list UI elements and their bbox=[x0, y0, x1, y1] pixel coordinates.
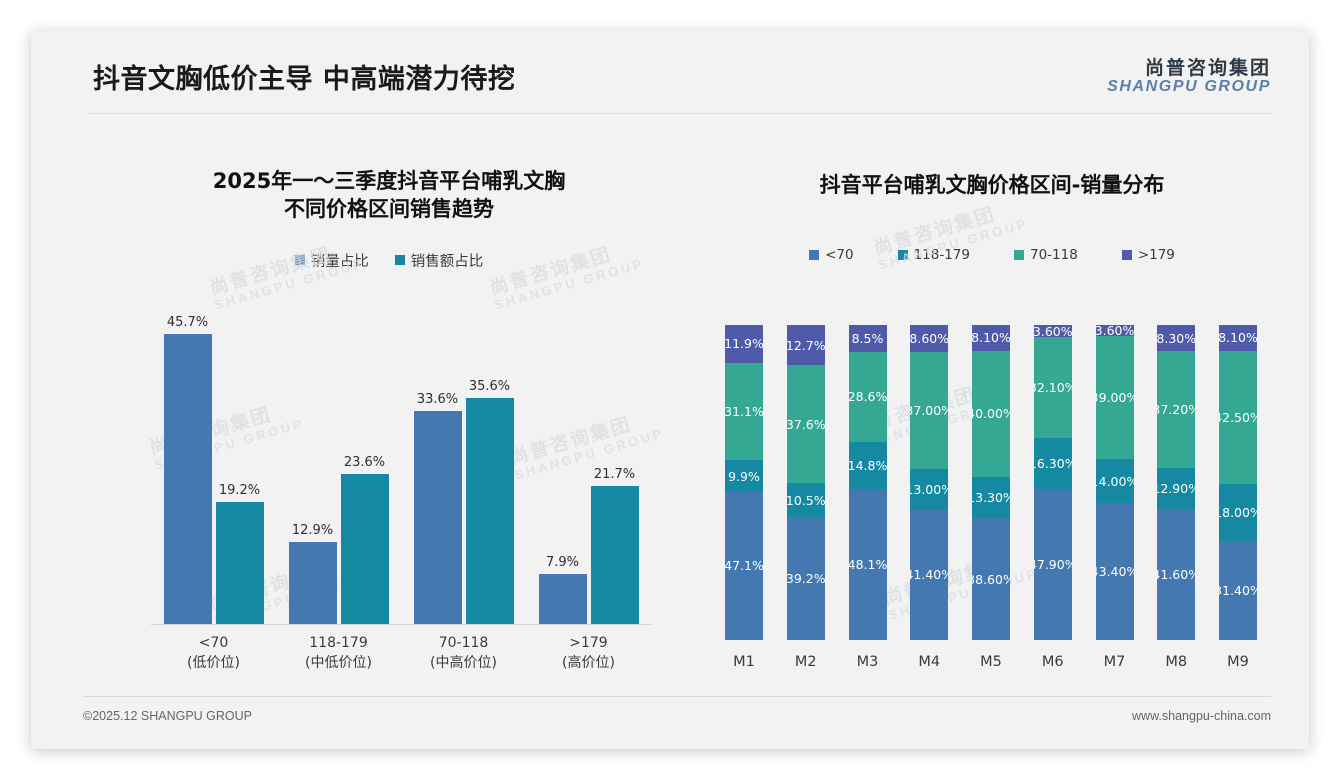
segment-value-label: 43.40% bbox=[1096, 564, 1134, 579]
stacked-bar-segment[interactable]: 16.30% bbox=[1034, 438, 1072, 489]
grouped-bar-x-axis: <70(低价位)118-179(中低价位)70-118(中高价位)>179(高价… bbox=[151, 627, 651, 677]
stacked-bar-segment[interactable]: 37.20% bbox=[1157, 351, 1195, 468]
right-chart-title: 抖音平台哺乳文胸价格区间-销量分布 bbox=[703, 127, 1281, 199]
x-axis-tick-label: M9 bbox=[1219, 646, 1257, 680]
bar-column[interactable]: 33.6% bbox=[414, 307, 462, 624]
stacked-bar-segment[interactable]: 28.6% bbox=[849, 352, 887, 442]
segment-value-label: 12.7% bbox=[787, 338, 825, 353]
bar-column[interactable]: 7.9% bbox=[539, 307, 587, 624]
segment-value-label: 8.30% bbox=[1157, 331, 1195, 346]
watermark: 尚普咨询集团 SHANGPU GROUP bbox=[487, 236, 646, 313]
bar-value-label: 19.2% bbox=[219, 483, 260, 498]
bar[interactable] bbox=[539, 574, 587, 624]
tick-label-range: >179 bbox=[539, 633, 639, 653]
stacked-bar[interactable]: 3.60%32.10%16.30%47.90% bbox=[1034, 325, 1072, 640]
bar-value-label: 33.6% bbox=[417, 392, 458, 407]
stacked-bar-segment[interactable]: 8.10% bbox=[1219, 325, 1257, 351]
stacked-bar-segment[interactable]: 43.40% bbox=[1096, 503, 1134, 640]
segment-value-label: 18.00% bbox=[1219, 505, 1257, 520]
stacked-bar-segment[interactable]: 10.5% bbox=[787, 483, 825, 516]
stacked-bar-segment[interactable]: 8.30% bbox=[1157, 325, 1195, 351]
bar-value-label: 35.6% bbox=[469, 379, 510, 394]
bar[interactable] bbox=[591, 486, 639, 624]
legend-item[interactable]: 销售额占比 bbox=[395, 250, 484, 271]
watermark: 尚普咨询集团 SHANGPU GROUP bbox=[207, 236, 366, 313]
x-axis-tick-label: M8 bbox=[1157, 646, 1195, 680]
segment-value-label: 28.6% bbox=[849, 389, 887, 404]
stacked-bar[interactable]: 8.30%37.20%12.90%41.60% bbox=[1157, 325, 1195, 640]
legend-label: >179 bbox=[1138, 247, 1175, 263]
stacked-bar-segment[interactable]: 12.90% bbox=[1157, 468, 1195, 509]
x-axis-tick-label: M2 bbox=[787, 646, 825, 680]
tick-label-tier: (低价位) bbox=[164, 653, 264, 673]
stacked-bar[interactable]: 8.5%28.6%14.8%48.1% bbox=[849, 325, 887, 640]
x-axis-tick-label: M7 bbox=[1096, 646, 1134, 680]
bar-value-label: 12.9% bbox=[292, 523, 333, 538]
segment-value-label: 31.40% bbox=[1219, 583, 1257, 598]
stacked-bar-chart: 11.9%31.1%9.9%47.1%12.7%37.6%10.5%39.2%8… bbox=[717, 325, 1265, 680]
stacked-bar-segment[interactable]: 47.90% bbox=[1034, 489, 1072, 640]
tick-label-range: 118-179 bbox=[289, 633, 389, 653]
bar-column[interactable]: 21.7% bbox=[591, 307, 639, 624]
stacked-bar-segment[interactable]: 42.50% bbox=[1219, 351, 1257, 485]
segment-value-label: 3.60% bbox=[1096, 325, 1134, 336]
brand-logo: 尚普咨询集团 SHANGPU GROUP bbox=[1107, 59, 1271, 96]
stacked-bar-segment[interactable]: 3.60% bbox=[1034, 325, 1072, 336]
stacked-bar-plot-area: 11.9%31.1%9.9%47.1%12.7%37.6%10.5%39.2%8… bbox=[725, 325, 1257, 640]
segment-value-label: 13.30% bbox=[972, 490, 1010, 505]
stacked-bar-segment[interactable]: 9.9% bbox=[725, 460, 763, 491]
segment-value-label: 47.90% bbox=[1034, 557, 1072, 572]
logo-english-text: SHANGPU GROUP bbox=[1107, 79, 1271, 96]
stacked-bar-segment[interactable]: 8.60% bbox=[910, 325, 948, 352]
x-axis-tick-label: 70-118(中高价位) bbox=[414, 627, 514, 677]
segment-value-label: 47.1% bbox=[725, 558, 763, 573]
header-divider bbox=[89, 113, 1271, 114]
bar-column[interactable]: 35.6% bbox=[466, 307, 514, 624]
stacked-bar-segment[interactable]: 8.10% bbox=[972, 325, 1010, 351]
tick-label-range: <70 bbox=[164, 633, 264, 653]
bar[interactable] bbox=[289, 542, 337, 624]
x-axis-tick-label: <70(低价位) bbox=[164, 627, 264, 677]
bar[interactable] bbox=[164, 334, 212, 624]
segment-value-label: 8.10% bbox=[972, 330, 1010, 345]
legend-swatch-icon bbox=[1122, 250, 1132, 260]
x-axis-tick-label: M3 bbox=[849, 646, 887, 680]
segment-value-label: 37.6% bbox=[787, 417, 825, 432]
segment-value-label: 31.1% bbox=[725, 404, 763, 419]
stacked-bar[interactable]: 11.9%31.1%9.9%47.1% bbox=[725, 325, 763, 640]
stacked-bar-segment[interactable]: 39.2% bbox=[787, 517, 825, 640]
legend-swatch-icon bbox=[295, 255, 305, 265]
stacked-bar-segment[interactable]: 48.1% bbox=[849, 489, 887, 641]
tick-label-tier: (中低价位) bbox=[289, 653, 389, 673]
stacked-bar[interactable]: 8.10%40.00%13.30%38.60% bbox=[972, 325, 1010, 640]
bar-group: 7.9%21.7% bbox=[539, 307, 639, 624]
x-axis-tick-label: >179(高价位) bbox=[539, 627, 639, 677]
watermark-en: SHANGPU GROUP bbox=[877, 216, 1030, 273]
footer-website: www.shangpu-china.com bbox=[1132, 709, 1271, 723]
segment-value-label: 14.00% bbox=[1096, 474, 1134, 489]
stacked-bar-segment[interactable]: 31.1% bbox=[725, 363, 763, 461]
stacked-bar-segment[interactable]: 8.5% bbox=[849, 325, 887, 352]
legend-swatch-icon bbox=[395, 255, 405, 265]
stacked-bar-segment[interactable]: 41.40% bbox=[910, 510, 948, 640]
logo-chinese-text: 尚普咨询集团 bbox=[1107, 59, 1271, 79]
bar-value-label: 7.9% bbox=[546, 555, 579, 570]
segment-value-label: 37.20% bbox=[1157, 402, 1195, 417]
segment-value-label: 3.60% bbox=[1034, 325, 1072, 336]
bar-column[interactable]: 45.7% bbox=[164, 307, 212, 624]
legend-label: 118-179 bbox=[914, 247, 970, 263]
segment-value-label: 48.1% bbox=[849, 557, 887, 572]
legend-swatch-icon bbox=[898, 250, 908, 260]
segment-value-label: 8.60% bbox=[910, 331, 948, 346]
left-chart-title-line2: 不同价格区间销售趋势 bbox=[119, 195, 659, 223]
legend-label: <70 bbox=[825, 247, 854, 263]
stacked-bar-segment[interactable]: 47.1% bbox=[725, 492, 763, 640]
legend-item[interactable]: 70-118 bbox=[1014, 247, 1078, 263]
legend-label: 销量占比 bbox=[311, 250, 369, 271]
bar[interactable] bbox=[341, 474, 389, 624]
x-axis-tick-label: M1 bbox=[725, 646, 763, 680]
stacked-bar[interactable]: 8.10%42.50%18.00%31.40% bbox=[1219, 325, 1257, 640]
legend-label: 70-118 bbox=[1030, 247, 1078, 263]
bar-group: 33.6%35.6% bbox=[414, 307, 514, 624]
right-chart-panel: 抖音平台哺乳文胸价格区间-销量分布 <70118-17970-118>179 尚… bbox=[703, 127, 1281, 712]
grouped-bar-chart: 45.7%19.2%12.9%23.6%33.6%35.6%7.9%21.7% … bbox=[119, 307, 659, 677]
right-chart-legend: <70118-17970-118>179 bbox=[703, 247, 1281, 263]
stacked-bar[interactable]: 3.60%39.00%14.00%43.40% bbox=[1096, 325, 1134, 640]
x-axis-tick-label: M5 bbox=[972, 646, 1010, 680]
bar-column[interactable]: 12.9% bbox=[289, 307, 337, 624]
left-chart-legend: 销量占比 销售额占比 bbox=[89, 250, 689, 271]
segment-value-label: 12.90% bbox=[1157, 481, 1195, 496]
left-chart-panel: 2025年一～三季度抖音平台哺乳文胸 不同价格区间销售趋势 销量占比 销售额占比… bbox=[89, 127, 689, 712]
segment-value-label: 39.00% bbox=[1096, 390, 1134, 405]
segment-value-label: 16.30% bbox=[1034, 456, 1072, 471]
segment-value-label: 41.60% bbox=[1157, 567, 1195, 582]
segment-value-label: 8.5% bbox=[852, 331, 884, 346]
bar-group: 45.7%19.2% bbox=[164, 307, 264, 624]
legend-label: 销售额占比 bbox=[411, 250, 484, 271]
stacked-bar-segment[interactable]: 41.60% bbox=[1157, 509, 1195, 640]
stacked-bar-segment[interactable]: 13.00% bbox=[910, 469, 948, 510]
segment-value-label: 10.5% bbox=[787, 493, 825, 508]
stacked-bar-segment[interactable]: 11.9% bbox=[725, 325, 763, 362]
segment-value-label: 37.00% bbox=[910, 403, 948, 418]
stacked-bar[interactable]: 12.7%37.6%10.5%39.2% bbox=[787, 325, 825, 640]
slide: 抖音文胸低价主导 中高端潜力待挖 尚普咨询集团 SHANGPU GROUP 20… bbox=[31, 31, 1309, 749]
grouped-bar-plot-area: 45.7%19.2%12.9%23.6%33.6%35.6%7.9%21.7% bbox=[151, 307, 651, 625]
stacked-bar-segment[interactable]: 14.8% bbox=[849, 442, 887, 489]
tick-label-tier: (高价位) bbox=[539, 653, 639, 673]
tick-label-range: 70-118 bbox=[414, 633, 514, 653]
slide-header: 抖音文胸低价主导 中高端潜力待挖 尚普咨询集团 SHANGPU GROUP bbox=[31, 31, 1309, 117]
segment-value-label: 40.00% bbox=[972, 406, 1010, 421]
stacked-bar-segment[interactable]: 40.00% bbox=[972, 351, 1010, 477]
segment-value-label: 32.10% bbox=[1034, 380, 1072, 395]
bar-column[interactable]: 19.2% bbox=[216, 307, 264, 624]
stacked-bar-segment[interactable]: 13.30% bbox=[972, 477, 1010, 519]
bar-value-label: 23.6% bbox=[344, 455, 385, 470]
stacked-bar-segment[interactable]: 37.6% bbox=[787, 365, 825, 483]
stacked-bar-segment[interactable]: 32.10% bbox=[1034, 337, 1072, 438]
segment-value-label: 38.60% bbox=[972, 572, 1010, 587]
bar[interactable] bbox=[216, 502, 264, 624]
segment-value-label: 13.00% bbox=[910, 482, 948, 497]
legend-item[interactable]: >179 bbox=[1122, 247, 1175, 263]
legend-swatch-icon bbox=[809, 250, 819, 260]
legend-item[interactable]: <70 bbox=[809, 247, 854, 263]
tick-label-tier: (中高价位) bbox=[414, 653, 514, 673]
left-chart-title: 2025年一～三季度抖音平台哺乳文胸 不同价格区间销售趋势 bbox=[89, 127, 689, 224]
segment-value-label: 11.9% bbox=[725, 336, 763, 351]
bar-value-label: 21.7% bbox=[594, 467, 635, 482]
bar[interactable] bbox=[414, 411, 462, 624]
footer-divider bbox=[83, 696, 1271, 697]
stacked-bar-x-axis: M1M2M3M4M5M6M7M8M9 bbox=[725, 646, 1257, 680]
bar[interactable] bbox=[466, 398, 514, 624]
x-axis-tick-label: M4 bbox=[910, 646, 948, 680]
segment-value-label: 14.8% bbox=[849, 458, 887, 473]
page-title: 抖音文胸低价主导 中高端潜力待挖 bbox=[93, 57, 515, 96]
stacked-bar-segment[interactable]: 39.00% bbox=[1096, 336, 1134, 459]
x-axis-tick-label: 118-179(中低价位) bbox=[289, 627, 389, 677]
bar-column[interactable]: 23.6% bbox=[341, 307, 389, 624]
footer-copyright: ©2025.12 SHANGPU GROUP bbox=[83, 709, 252, 723]
stacked-bar-segment[interactable]: 38.60% bbox=[972, 518, 1010, 640]
stacked-bar-segment[interactable]: 18.00% bbox=[1219, 484, 1257, 541]
bar-group: 12.9%23.6% bbox=[289, 307, 389, 624]
left-chart-title-line1: 2025年一～三季度抖音平台哺乳文胸 bbox=[119, 167, 659, 195]
segment-value-label: 8.10% bbox=[1219, 330, 1257, 345]
legend-item[interactable]: 118-179 bbox=[898, 247, 970, 263]
segment-value-label: 39.2% bbox=[787, 571, 825, 586]
legend-item[interactable]: 销量占比 bbox=[295, 250, 369, 271]
stacked-bar-segment[interactable]: 37.00% bbox=[910, 352, 948, 469]
stacked-bar-segment[interactable]: 12.7% bbox=[787, 325, 825, 365]
bar-value-label: 45.7% bbox=[167, 315, 208, 330]
stacked-bar-segment[interactable]: 31.40% bbox=[1219, 541, 1257, 640]
segment-value-label: 42.50% bbox=[1219, 410, 1257, 425]
stacked-bar-segment[interactable]: 14.00% bbox=[1096, 459, 1134, 503]
stacked-bar-segment[interactable]: 3.60% bbox=[1096, 325, 1134, 336]
legend-swatch-icon bbox=[1014, 250, 1024, 260]
segment-value-label: 41.40% bbox=[910, 567, 948, 582]
segment-value-label: 9.9% bbox=[728, 469, 760, 484]
stacked-bar[interactable]: 8.60%37.00%13.00%41.40% bbox=[910, 325, 948, 640]
x-axis-tick-label: M6 bbox=[1034, 646, 1072, 680]
